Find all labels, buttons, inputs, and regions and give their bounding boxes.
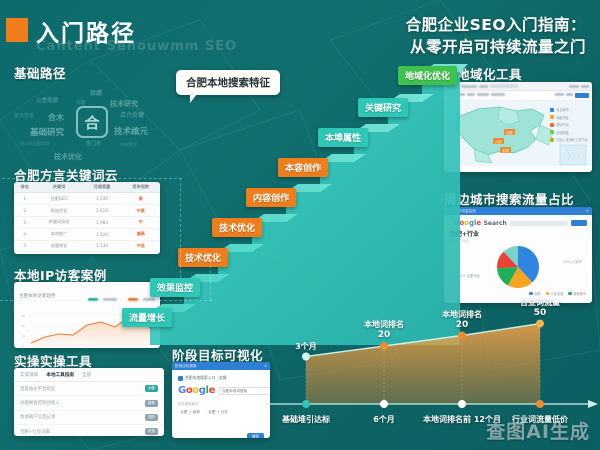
table-column-header: 关键词 — [35, 182, 82, 193]
staircase-step-label[interactable]: 内容创作 — [246, 188, 296, 207]
wordcloud-term: 技术优化 — [54, 152, 82, 162]
google-suggestions[interactable]: · 合肥 + 装修· 合肥 + 行业 — [178, 410, 264, 415]
tool-tab[interactable]: 本地工具指南 — [46, 372, 74, 378]
map-legend-item: 地级市区 — [550, 115, 588, 120]
staircase-step-label[interactable]: 效果监控 — [150, 278, 200, 297]
line-chart-header: 合肥本地访客趋势 — [19, 286, 155, 305]
legend-swatch — [550, 115, 554, 119]
staircase-step-label[interactable]: 技术优化 — [178, 248, 228, 267]
table-cell: 2,610 — [83, 205, 122, 217]
table-row[interactable]: 4本地推广1,520偏高 — [14, 228, 160, 240]
wordcloud-term: 且六合建 — [120, 110, 144, 119]
chart-point-value: 20 — [364, 330, 404, 341]
svg-text:20: 20 — [21, 334, 25, 338]
table-row[interactable]: 2网站优化2,610中高 — [14, 205, 160, 217]
map-pin-luan[interactable]: 六安 — [493, 138, 504, 144]
legend-swatch — [550, 138, 554, 142]
chart-point-name: 本地词排名 — [442, 310, 482, 320]
table-column-header: 月搜索量 — [83, 182, 122, 193]
table-body: 1合肥SEO3,240高2网站优化2,610中高3关键词排名1,984中4本地推… — [14, 193, 160, 252]
svg-text:40: 40 — [21, 324, 25, 328]
staircase-step-label[interactable]: 本容创作 — [278, 158, 328, 177]
google-window-titlebar: 阶段目标搜索 ✕ — [172, 362, 270, 370]
google-suggestion[interactable]: · 合肥 + 装修 — [178, 410, 200, 415]
map-legend: 省会城市地级市区县域节点区域覆盖已接入本地化工具节点 — [550, 107, 588, 142]
tool-row-badge: 推荐 — [145, 400, 158, 407]
chart-point-label: 本地词排名20 — [364, 320, 404, 341]
chart-axis-label: 本地词排名前 12个月 — [423, 414, 501, 425]
title-accent-bar — [6, 18, 28, 42]
google-breadcrumb: 合肥本地搜索入口 · 实操 — [178, 375, 264, 381]
table-cell: 1,520 — [83, 228, 122, 240]
staircase-step-label[interactable]: 关键研究 — [358, 98, 408, 117]
chart-point-label: 3个月 — [295, 342, 317, 352]
table-cell: 1 — [14, 193, 35, 205]
table-row[interactable]: 1合肥SEO3,240高 — [14, 193, 160, 205]
wordcloud-heading: 基础路径 — [14, 63, 66, 82]
staircase-step-label[interactable]: 本埠属性 — [318, 128, 368, 147]
wordcloud-term: 市政策评 — [120, 142, 137, 148]
map-legend-label: 县域节点 — [556, 122, 569, 127]
tool-row-badge: 进阶 — [145, 414, 158, 421]
tool-row[interactable]: 百度站长平台验证必做 — [14, 382, 164, 396]
google-search-row[interactable]: Google — [178, 385, 264, 396]
table-cell: 关键词排名 — [35, 216, 82, 228]
table-cell: 4 — [14, 228, 35, 240]
map-pin-hefei[interactable]: 合肥 — [504, 129, 515, 135]
tool-tab[interactable]: 全部 — [82, 372, 91, 378]
chart-point-label: 本地词排名20 — [442, 310, 482, 331]
staircase-svg — [150, 60, 470, 345]
map-legend-label: 地级市区 — [556, 115, 569, 120]
chart-axis-label: 6个月 — [373, 414, 395, 425]
wordcloud-term: 词语 — [76, 100, 85, 106]
chart-axis-label: 基础堆引达标 — [282, 414, 330, 425]
map-legend-item: 县域节点 — [550, 122, 588, 127]
google-window-title: 阶段目标搜索 — [175, 364, 197, 369]
pie-note-right: 20% 六安市 — [563, 259, 582, 264]
svg-text:60: 60 — [21, 314, 25, 318]
google-suggestion[interactable]: · 合肥 + 行业 — [206, 410, 228, 415]
legend-swatch — [550, 123, 554, 127]
table-cell: 3 — [14, 216, 35, 228]
headline: 合肥企业SEO入门指南： 从零开启可持续流量之门 — [406, 14, 586, 58]
table-cell: 3,240 — [83, 193, 122, 205]
tool-row[interactable]: 本地商户信息认领进阶 — [14, 411, 164, 425]
infographic-canvas: 入门路径 Cantent Sehouwmm SEO 合肥企业SEO入门指南： 从… — [0, 0, 600, 450]
chart-point-value: 20 — [442, 320, 482, 331]
tool-row[interactable]: 合肥+行业词库可选 — [14, 425, 164, 436]
growth-timeline-chart: 3个月本地词排名20本地词排名20合业词流量50 基础堆引达标6个月本地词排名前… — [262, 312, 600, 444]
chart-point-value: 50 — [520, 308, 560, 319]
chart-point-label: 合业词流量50 — [520, 298, 560, 319]
svg-text:0: 0 — [21, 344, 23, 348]
legend-swatch — [550, 108, 554, 112]
map-legend-item: 省会城市 — [550, 107, 588, 112]
wordcloud-term: 基础研究 — [30, 126, 64, 138]
wordcloud-term: 台江市区搜索词 — [20, 141, 49, 147]
headline-line-1: 合肥企业SEO入门指南： — [406, 14, 586, 36]
legend-swatch — [546, 292, 550, 296]
tool-row-label: 本地商户信息认领 — [20, 414, 55, 420]
map-legend-item: 区域覆盖 — [550, 130, 588, 135]
pie-legend-label: 六安芜湖 — [551, 291, 564, 296]
tool-row-label: 合肥+行业词库 — [20, 429, 50, 435]
table-header-row: 排名关键词月搜索量竞争指数 — [14, 182, 160, 193]
tool-row-list: 百度站长平台验证必做谷歌搜索控制台接入推荐本地商户信息认领进阶合肥+行业词库可选 — [14, 382, 164, 436]
google-card-body: 合肥本地搜索入口 · 实操 Google 相关搜索建议 · 合肥 + 装修· 合… — [172, 370, 270, 438]
wordcloud-term: 拾缠 — [90, 88, 102, 97]
legend-swatch — [550, 130, 554, 134]
table-cell: 5 — [14, 240, 35, 252]
keyword-table: 排名关键词月搜索量竞争指数 1合肥SEO3,240高2网站优化2,610中高3关… — [14, 182, 160, 252]
pie-subtitle: 合肥+行业 — [450, 229, 586, 238]
staircase-step-label[interactable]: 流量增长 — [122, 308, 172, 327]
wordcloud-term: 合木 — [48, 112, 64, 123]
staircase-graphic: 地域化优化关键研究本埠属性本容创作内容创作技术优化技术优化效果监控流量增长 — [150, 60, 470, 345]
table-cell: 流量增长 — [35, 240, 82, 252]
browser-icon — [178, 376, 183, 381]
line-chart-legend — [88, 286, 155, 305]
tool-row-label: 谷歌搜索控制台接入 — [20, 400, 60, 406]
pie-legend-item: 合肥 — [529, 291, 540, 296]
wordcloud-term: 技术维元 — [114, 125, 148, 137]
table-cell: 本地推广 — [35, 228, 82, 240]
map-legend-label: 省会城市 — [556, 107, 569, 112]
map-legend-item: 已接入本地化工具节点 — [550, 137, 588, 142]
google-search-card[interactable]: 阶段目标搜索 ✕ 合肥本地搜索入口 · 实操 Google 相关搜索建议 · 合… — [172, 362, 270, 438]
table-cell: 2 — [14, 205, 35, 217]
google-hint: 相关搜索建议 — [178, 401, 264, 406]
tool-row-badge: 必做 — [145, 385, 158, 392]
tool-tabs[interactable]: 实操清单本地工具指南全部 — [14, 368, 164, 382]
legend-swatch — [568, 292, 572, 296]
legend-swatch — [529, 292, 533, 296]
pie-close-icon[interactable]: ✕ — [586, 209, 589, 213]
table-cell: 1,984 — [83, 216, 122, 228]
practical-tool-card[interactable]: 实操清单本地工具指南全部 百度站长平台验证必做谷歌搜索控制台接入推荐本地商户信息… — [14, 368, 164, 436]
callout-bubble[interactable]: 合肥本地搜索特征 — [176, 70, 280, 95]
table-column-header: 排名 — [14, 182, 35, 193]
table-cell: 网站优化 — [35, 205, 82, 217]
tool-row[interactable]: 谷歌搜索控制台接入推荐 — [14, 396, 164, 410]
staircase-step-label[interactable]: 技术优化 — [212, 218, 262, 237]
headline-line-2: 从零开启可持续流量之门 — [406, 36, 586, 58]
pie-legend-item: 六安芜湖 — [546, 291, 564, 296]
wordcloud-term: 张大吉说 — [14, 112, 34, 119]
staircase-step-label[interactable]: 地域化优化 — [398, 66, 457, 85]
map-pin-wuhu[interactable]: 芜湖 — [500, 147, 511, 153]
chart-point-name: 合业词流量 — [520, 298, 560, 308]
tool-row-badge: 可选 — [145, 428, 158, 435]
google-logo: Google — [178, 385, 215, 396]
chart-point-name: 本地词排名 — [364, 320, 404, 330]
table-cell: 合肥SEO — [35, 193, 82, 205]
line-chart-title: 合肥本地访客趋势 — [19, 293, 56, 299]
wordcloud-term: 技术研究 — [110, 99, 138, 109]
table-row[interactable]: 3关键词排名1,984中 — [14, 216, 160, 228]
chart-point-name: 3个月 — [295, 342, 317, 352]
pie-legend-label: 合肥 — [534, 291, 540, 296]
map-legend-label: 已接入本地化工具节点 — [556, 137, 588, 142]
keyword-table-card[interactable]: 排名关键词月搜索量竞争指数 1合肥SEO3,240高2网站优化2,610中高3关… — [14, 182, 160, 254]
google-button-wrap: 搜索 — [178, 422, 264, 438]
table-row[interactable]: 5流量增长1,130中低 — [14, 240, 160, 252]
seal-icon: 合 — [76, 106, 108, 138]
tool-tab[interactable]: 实操清单 — [20, 372, 38, 378]
wordcloud-term: 信门合 — [86, 140, 101, 147]
chart-axis-label: 行业词流量低价 — [512, 414, 568, 425]
wordcloud-term: 公里搭建 — [36, 96, 58, 104]
map-legend-label: 区域覆盖 — [556, 130, 569, 135]
table-cell: 1,130 — [83, 240, 122, 252]
tool-row-label: 百度站长平台验证 — [20, 386, 55, 392]
pie-legend-item: 其他城市 — [568, 291, 586, 296]
page-subtitle: Cantent Sehouwmm SEO — [36, 39, 237, 54]
pie-legend-label: 其他城市 — [573, 291, 586, 296]
